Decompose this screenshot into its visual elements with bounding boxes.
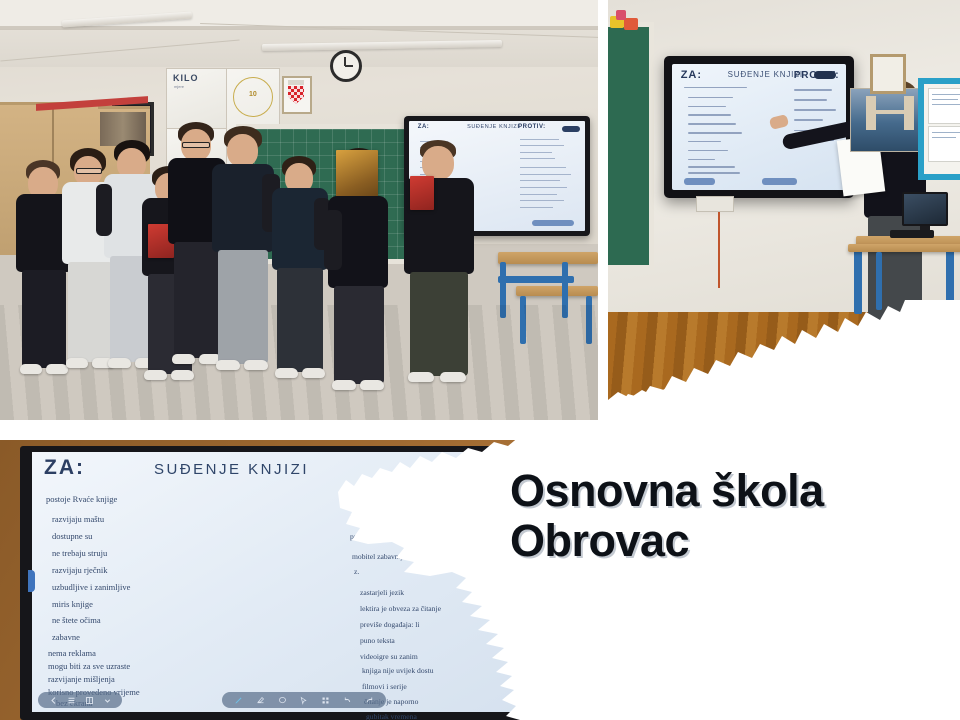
title-line-1: Osnovna škola <box>510 466 940 516</box>
display-text-line <box>520 145 564 146</box>
board-pro-item: postoje Rvaće knjige <box>46 494 117 504</box>
board-side-tab[interactable] <box>28 570 35 592</box>
student-legs <box>218 250 268 364</box>
board-pro-item: razvijanje mišljenja <box>48 674 115 684</box>
display-heading-za: ZA: <box>418 124 430 130</box>
sheet-text-line <box>932 137 956 138</box>
display-text-line <box>520 180 560 181</box>
student-shoe <box>440 372 466 382</box>
cursor-icon[interactable] <box>299 696 308 705</box>
student-shoe <box>20 364 42 374</box>
lasso-icon[interactable] <box>278 696 287 705</box>
classroom-chair <box>876 252 882 310</box>
board-con-item: previše događaja: li <box>360 620 419 629</box>
student-glasses <box>182 142 210 148</box>
board-pro-item: razvijaju rječnik <box>52 565 107 575</box>
board-pro-item: ne štete očima <box>52 615 101 625</box>
display-heading-protiv: PROTIV: <box>518 124 546 130</box>
student-legs <box>334 286 384 384</box>
display-text-line <box>688 106 726 108</box>
sheet-text-line <box>932 94 960 95</box>
student-shoe <box>244 360 268 370</box>
display-text-line <box>688 114 732 116</box>
board-left-toolbar[interactable] <box>38 692 122 708</box>
board-tool-toolbar[interactable] <box>222 692 386 708</box>
display-text-line <box>520 187 568 188</box>
display-text-line <box>794 99 827 101</box>
display-text-line <box>688 172 740 174</box>
board-pro-item: mogu biti za sve uzraste <box>48 661 130 671</box>
board-pro-item: nema reklama <box>48 648 96 658</box>
student-shoe <box>66 358 88 368</box>
display-text-line <box>794 89 832 91</box>
overlay-title: Osnovna škola Obrovac <box>510 466 940 566</box>
green-chalkboard <box>608 22 654 270</box>
student-shoe <box>332 380 356 390</box>
sheet-text-line <box>932 132 960 133</box>
group-photo: KILO mjere kocka 10 10 <box>0 0 598 420</box>
display-text-line <box>520 200 564 201</box>
board-heading-title: SUĐENJE KNJIZI <box>154 461 309 478</box>
keyboard <box>890 230 934 238</box>
student-head <box>422 146 454 180</box>
student-shoe <box>862 320 890 332</box>
board-con-item: predug <box>350 532 371 541</box>
back-icon[interactable] <box>49 696 58 705</box>
display-heading-za: ZA: <box>681 69 702 81</box>
wall-clock <box>330 50 362 82</box>
student-backpack <box>324 210 342 270</box>
poster-kilo-sub: mjere <box>174 84 184 89</box>
board-con-item: videoigre su zanim <box>360 652 418 661</box>
display-text-line <box>688 166 735 168</box>
pointing-photo: ZA: SUĐENJE KNJIZI PROTIV: <box>608 0 960 400</box>
eraser-icon[interactable] <box>256 696 265 705</box>
chevron-down-icon[interactable] <box>103 696 112 705</box>
student-backpack <box>96 184 112 236</box>
poster-kilo: KILO mjere <box>166 68 228 130</box>
grid-icon[interactable] <box>321 696 330 705</box>
bulletin-board <box>918 78 960 180</box>
pages-icon[interactable] <box>85 696 94 705</box>
board-con-item: preteš <box>350 512 368 521</box>
side-desk <box>848 244 960 252</box>
board-con-item: mobitel zabavniji <box>352 552 405 561</box>
student-legs <box>277 268 323 372</box>
book-held-red <box>410 176 434 210</box>
display-toolbar-right[interactable] <box>762 178 797 185</box>
board-pro-item: zabavne <box>52 632 80 642</box>
poster-number: 10 <box>249 91 257 98</box>
board-con-item: zastarjeli jezik <box>360 588 404 597</box>
board-pro-item: uzbudljive i zanimljive <box>52 582 130 592</box>
student-shoe <box>275 368 298 378</box>
poster-kilo-title: KILO <box>173 73 199 83</box>
display-text-line <box>520 174 571 175</box>
coa-crown <box>288 80 304 85</box>
computer-monitor <box>902 192 948 226</box>
student-shoe <box>302 368 325 378</box>
display-text-line <box>688 97 733 99</box>
display-text-line <box>794 109 836 111</box>
student-shoe <box>144 370 167 380</box>
board-con-item: gubitak vremena <box>366 712 417 720</box>
small-framed-picture <box>870 54 906 94</box>
classroom-chair-seat <box>498 276 574 283</box>
student-shoe <box>408 372 434 382</box>
student-legs <box>174 242 220 358</box>
collage-canvas: KILO mjere kocka 10 10 <box>0 0 960 720</box>
classroom-desk <box>498 252 598 264</box>
undo-icon[interactable] <box>343 696 352 705</box>
redo-icon[interactable] <box>365 696 374 705</box>
board-pro-item: razvijaju maštu <box>52 514 104 524</box>
board-con-item: filmovi i serije <box>362 682 407 691</box>
croatian-coat-of-arms-icon <box>282 76 312 114</box>
display-text-line <box>688 123 737 125</box>
student-shoe <box>171 370 194 380</box>
display-text-line <box>520 139 559 140</box>
display-heading-title: SUĐENJE KNJIZI <box>728 70 803 79</box>
display-text-line <box>520 194 557 195</box>
display-text-line <box>794 119 824 121</box>
sheet-text-line <box>932 104 960 105</box>
display-text-line <box>520 158 555 159</box>
board-con-item: puno teksta <box>360 636 395 645</box>
board-pro-item: miris knjige <box>52 599 93 609</box>
display-toolbar-right[interactable] <box>532 220 574 226</box>
student-legs <box>410 272 468 376</box>
board-con-item: lektira je obveza za čitanje <box>360 604 441 613</box>
student-shoe <box>172 354 195 364</box>
student-shoe <box>46 364 68 374</box>
title-line-2: Obrovac <box>510 516 940 566</box>
display-text-line <box>688 132 742 134</box>
classroom-desk <box>516 286 598 296</box>
monitor-screen <box>904 194 946 224</box>
board-pro-item: dostupne su <box>52 531 92 541</box>
student-shoe <box>894 322 922 334</box>
student-shoe <box>360 380 384 390</box>
student-shoe <box>216 360 240 370</box>
coa-checkerboard <box>288 86 304 104</box>
student-shoe <box>108 358 131 368</box>
student-legs <box>22 270 66 368</box>
pen-icon[interactable] <box>234 696 243 705</box>
wall-socket <box>696 196 734 212</box>
menu-icon[interactable] <box>67 696 76 705</box>
display-toolbar-left[interactable] <box>684 178 715 185</box>
board-con-item: knjiga nije uvijek dostu <box>362 666 434 675</box>
student-glasses <box>76 168 102 174</box>
display-text-line <box>520 207 553 208</box>
poster-bridge-deck <box>866 110 914 114</box>
display-text-line <box>684 87 747 89</box>
student-legs <box>68 262 112 362</box>
student-head <box>227 134 258 167</box>
display-text-line <box>688 159 716 161</box>
board-heading-za: ZA: <box>44 456 85 480</box>
desk-chair <box>854 248 862 314</box>
display-badge <box>562 126 580 132</box>
display-text-line <box>688 141 721 143</box>
display-text-line <box>520 152 552 153</box>
sheet-text-line <box>932 99 958 100</box>
board-con-item: z. <box>354 567 359 576</box>
display-text-line <box>520 167 566 168</box>
board-pro-item: ne trebaju struju <box>52 548 107 558</box>
desk-chair <box>946 248 954 314</box>
display-badge <box>814 71 836 79</box>
display-heading-title: SUĐENJE KNJIZI <box>467 124 519 130</box>
display-text-line <box>688 150 728 152</box>
sticky-note <box>616 10 626 20</box>
sticky-note <box>624 18 638 30</box>
